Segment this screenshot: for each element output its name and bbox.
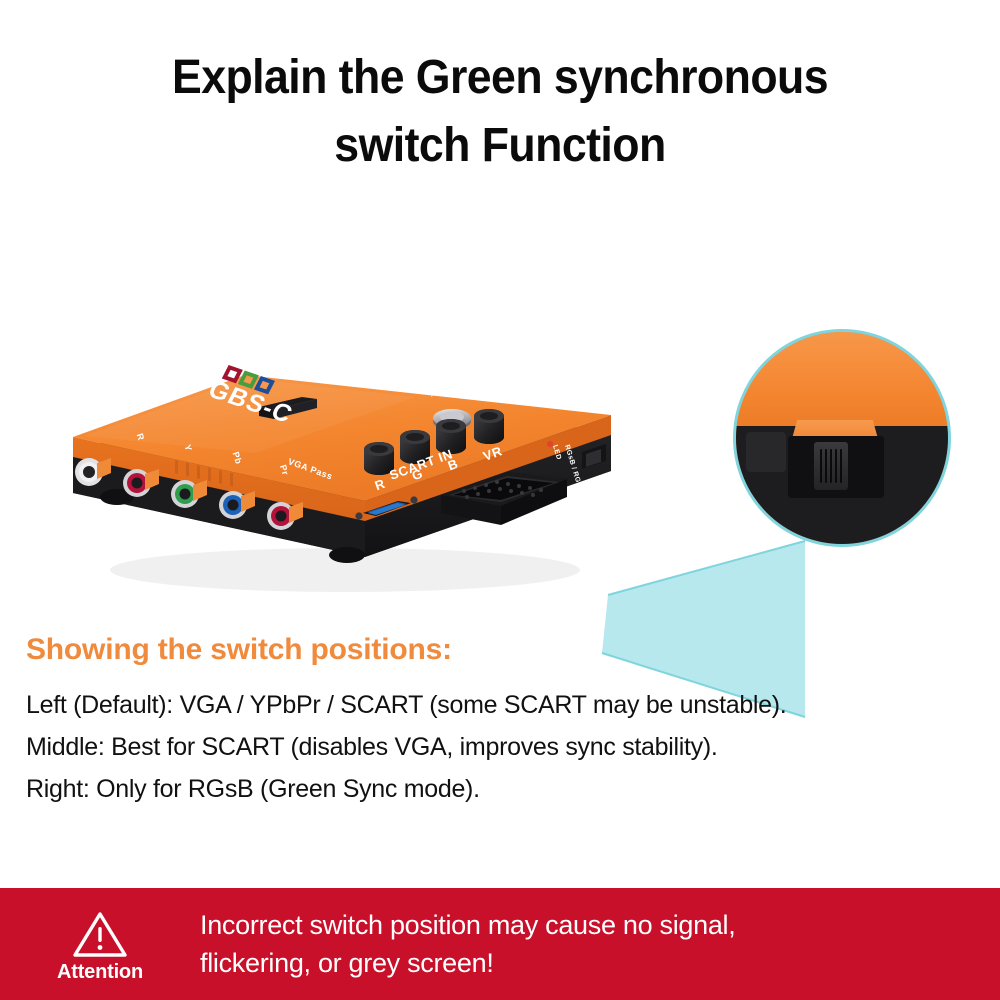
attention-banner: Attention Incorrect switch position may … bbox=[0, 888, 1000, 1000]
magnified-highlight bbox=[746, 432, 786, 472]
gbs-c-device: HDMI VGA OUT OK LED RGsB / RGBs VGA Pass… bbox=[55, 225, 615, 595]
switch-position-left: Left (Default): VGA / YPbPr / SCART (som… bbox=[26, 684, 976, 726]
switch-ridge bbox=[840, 449, 842, 483]
attention-message-line-2: flickering, or grey screen! bbox=[200, 944, 960, 982]
attention-message-line-1: Incorrect switch position may cause no s… bbox=[200, 906, 960, 944]
switch-ridge bbox=[830, 449, 832, 483]
switch-position-right: Right: Only for RGsB (Green Sync mode). bbox=[26, 768, 976, 810]
switch-position-middle: Middle: Best for SCART (disables VGA, im… bbox=[26, 726, 976, 768]
switch-ridge bbox=[835, 449, 837, 483]
page-title: Explain the Green synchronous switch Fun… bbox=[0, 44, 1000, 180]
switch-ridge bbox=[825, 449, 827, 483]
power-led bbox=[547, 441, 553, 447]
knob-B bbox=[436, 419, 466, 454]
switch-positions-heading: Showing the switch positions: bbox=[26, 630, 976, 670]
page-title-line-2: switch Function bbox=[35, 112, 965, 180]
attention-label: Attention bbox=[57, 961, 143, 984]
attention-message: Incorrect switch position may cause no s… bbox=[200, 906, 1000, 982]
magnifier-detail-view bbox=[733, 329, 951, 547]
knob-G bbox=[400, 430, 430, 464]
switch-ridge bbox=[820, 449, 822, 483]
switch-positions-section: Showing the switch positions: Left (Defa… bbox=[26, 630, 976, 810]
product-illustration: HDMI VGA OUT OK LED RGsB / RGBs VGA Pass… bbox=[0, 205, 1000, 615]
magnified-shell-top bbox=[733, 329, 951, 426]
knob-R bbox=[364, 442, 394, 475]
knob-VR bbox=[474, 409, 504, 444]
attention-icon-group: Attention bbox=[0, 905, 200, 984]
switch-positions-list: Left (Default): VGA / YPbPr / SCART (som… bbox=[26, 684, 976, 810]
magnified-slide-switch[interactable] bbox=[814, 442, 848, 490]
page-title-line-1: Explain the Green synchronous bbox=[35, 44, 965, 112]
warning-triangle-icon bbox=[72, 909, 128, 959]
